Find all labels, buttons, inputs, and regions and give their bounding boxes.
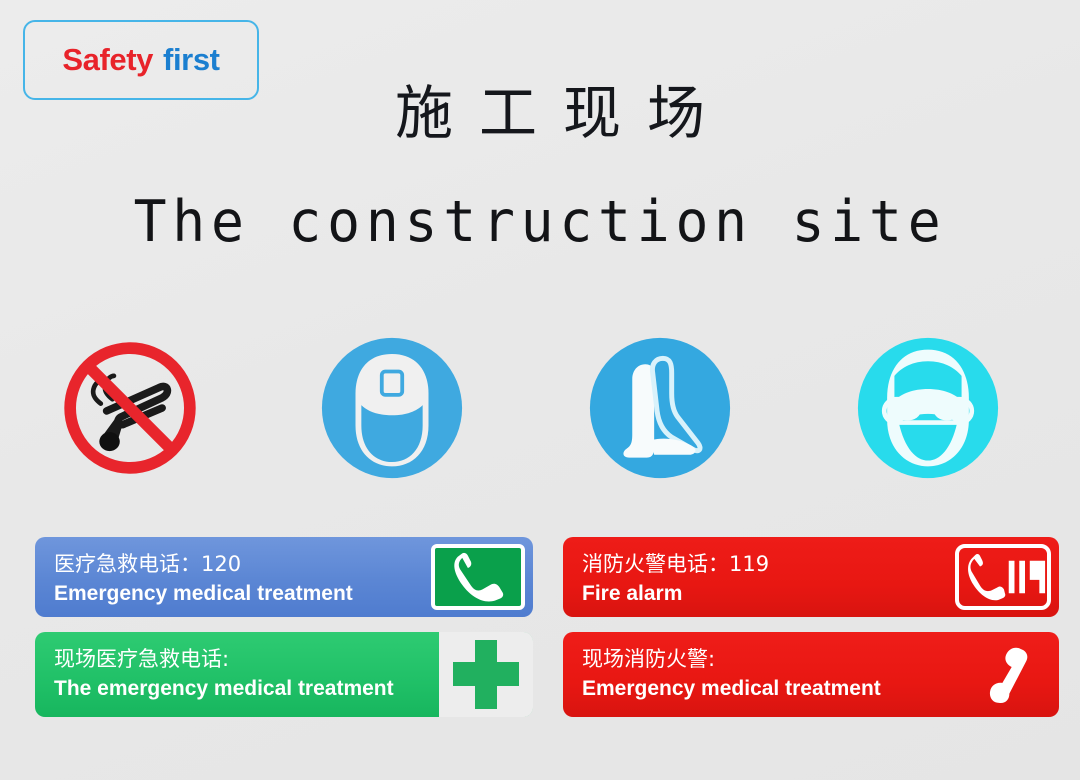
safety-boots-icon	[587, 335, 733, 481]
safety-word: Safety	[62, 42, 153, 78]
phone-119-icon	[955, 544, 1051, 610]
page-title-english: The construction site	[22, 186, 1059, 258]
safety-goggles-icon	[855, 335, 1001, 481]
panel-line-english: The emergency medical treatment	[54, 674, 413, 704]
no-smoking-icon	[57, 335, 203, 481]
page-title-chinese: 施工现场	[300, 82, 800, 144]
panel-line-chinese: 现场医疗急救电话:	[54, 644, 413, 674]
site-medical-panel: 现场医疗急救电话: The emergency medical treatmen…	[35, 632, 533, 717]
safety-first-badge: Safety first	[23, 20, 259, 100]
phone-handset-icon	[967, 640, 1047, 710]
panel-line-english: Emergency medical treatment	[54, 579, 413, 609]
fire-alarm-panel: 消防火警电话：119 Fire alarm	[563, 537, 1059, 617]
medical-cross-icon	[439, 632, 533, 717]
first-word: first	[163, 42, 220, 78]
number-119	[1009, 561, 1045, 594]
panel-line-chinese: 现场消防火警:	[582, 644, 939, 674]
medical-emergency-panel: 医疗急救电话：120 Emergency medical treatment	[35, 537, 533, 617]
safety-sign-board: Safety first 施工现场 The construction site	[0, 0, 1080, 780]
site-fire-panel: 现场消防火警: Emergency medical treatment	[563, 632, 1059, 717]
phone-green-icon	[431, 544, 525, 610]
panel-line-chinese: 医疗急救电话：120	[54, 549, 413, 579]
panel-text-block: 现场医疗急救电话: The emergency medical treatmen…	[54, 644, 413, 704]
panel-line-english: Fire alarm	[582, 579, 939, 609]
panel-text-block: 现场消防火警: Emergency medical treatment	[582, 644, 939, 704]
panel-line-chinese: 消防火警电话：119	[582, 549, 939, 579]
panel-text-block: 消防火警电话：119 Fire alarm	[582, 549, 939, 609]
panel-line-english: Emergency medical treatment	[582, 674, 939, 704]
hard-hat-icon	[319, 335, 465, 481]
panel-text-block: 医疗急救电话：120 Emergency medical treatment	[54, 549, 413, 609]
